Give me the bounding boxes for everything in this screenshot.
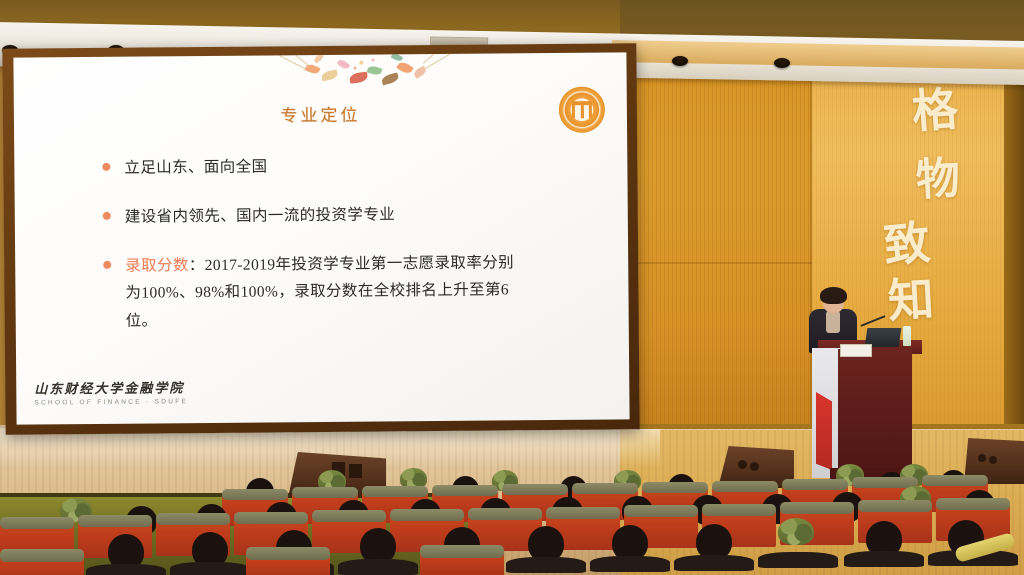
wall-calligraphy-ge: 格 <box>910 86 959 135</box>
bullet-text: 建设省内领先、国内一流的投资学专业 <box>125 201 396 230</box>
wall-panel-seam-horizontal <box>620 262 812 264</box>
speaker-hair <box>820 287 847 304</box>
bullet-highlight-label: 录取分数 <box>125 257 189 275</box>
lecture-hall-photo: 格 物 致 知 <box>0 0 1024 575</box>
bullet-dot-icon <box>102 163 110 171</box>
slide-title: 专业定位 <box>14 98 627 128</box>
auditorium-room: 格 物 致 知 <box>0 0 1024 575</box>
slide-bullet-list: 立足山东、面向全国 建设省内领先、国内一流的投资学专业 录取分数：2017-20… <box>102 151 589 357</box>
wall-calligraphy-zhi2: 知 <box>887 277 935 325</box>
slide-footer-logo: 山东财经大学金融学院 SCHOOL OF FINANCE · SDUFE <box>34 377 188 406</box>
projection-screen-frame: 专业定位 立足山东、面向全国 建设省内领先、国内一流的投资学专业 <box>2 43 639 435</box>
slide-bullet-item: 录取分数：2017-2019年投资学专业第一志愿录取率分别为100%、98%和1… <box>103 249 589 335</box>
podium-name-plate <box>840 344 872 357</box>
footer-logo-en: SCHOOL OF FINANCE · SDUFE <box>34 398 188 406</box>
wall-right-edge-shadow <box>1004 52 1024 452</box>
podium <box>838 349 912 477</box>
slide-bullet-item: 立足山东、面向全国 <box>102 151 587 182</box>
decorative-leaf-cluster <box>263 52 474 101</box>
bullet-text: 立足山东、面向全国 <box>124 153 267 181</box>
podium-red-banner <box>816 392 832 470</box>
water-bottle-icon <box>903 326 911 346</box>
footer-logo-cn: 山东财经大学金融学院 <box>34 377 188 397</box>
downlight-icon <box>672 56 688 66</box>
bullet-dot-icon <box>103 212 111 220</box>
slide-bullet-item: 建设省内领先、国内一流的投资学专业 <box>103 200 588 231</box>
wall-calligraphy-zhi: 致 <box>882 220 932 270</box>
bullet-dot-icon <box>103 261 111 269</box>
speaker-shirt <box>826 311 840 333</box>
projection-screen: 专业定位 立足山东、面向全国 建设省内领先、国内一流的投资学专业 <box>13 52 629 424</box>
downlight-icon <box>774 58 790 68</box>
wall-calligraphy-wu: 物 <box>915 157 961 203</box>
bullet-text-composite: 录取分数：2017-2019年投资学专业第一志愿录取率分别为100%、98%和1… <box>125 249 526 334</box>
